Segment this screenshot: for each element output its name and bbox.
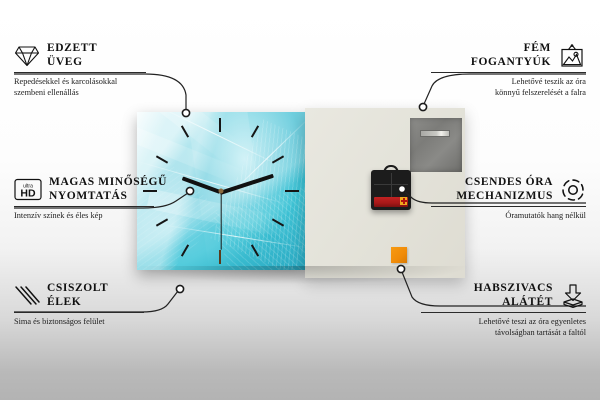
movement-seam xyxy=(391,173,392,197)
ultra-hd-big-label: HD xyxy=(20,188,36,200)
callout-high-quality-print: ultra HD MAGAS MINŐSÉGŰ NYOMTATÁS Intenz… xyxy=(14,176,174,221)
metal-hanger-plate xyxy=(410,118,462,172)
gear-icon xyxy=(560,178,586,202)
callout-title: ÜVEG xyxy=(47,56,97,70)
callout-title: CSENDES ÓRA xyxy=(456,176,553,190)
clock-tick xyxy=(251,125,259,137)
callout-description: Repedésekkel és karcolásokkal xyxy=(14,76,169,87)
callout-polished-edges: CSISZOLT ÉLEK Sima és biztonságos felüle… xyxy=(14,282,169,327)
foam-pad-sample xyxy=(391,247,407,263)
callout-title: MAGAS MINŐSÉGŰ xyxy=(49,176,167,190)
clock-second-hand xyxy=(220,192,221,250)
battery xyxy=(374,197,408,207)
clock-tick xyxy=(219,250,221,264)
callout-foam-pad: HABSZIVACS ALÁTÉT Lehetővé teszi az óra … xyxy=(421,282,586,339)
polished-edges-icon xyxy=(14,285,40,307)
callout-description: Intenzív színek és éles kép xyxy=(14,210,174,221)
callout-divider xyxy=(14,312,144,313)
clock-tick xyxy=(251,244,259,256)
callout-divider xyxy=(14,72,146,73)
clock-tick xyxy=(156,155,168,163)
callout-title: EDZETT xyxy=(47,42,97,56)
callout-title: FÉM xyxy=(471,42,551,56)
clock-tick xyxy=(272,218,284,226)
callout-title: HABSZIVACS xyxy=(474,282,553,296)
callout-tempered-glass: EDZETT ÜVEG Repedésekkel és karcolásokka… xyxy=(14,42,169,99)
callout-title: ALÁTÉT xyxy=(474,296,553,310)
callout-divider xyxy=(14,206,154,207)
hanger-slot xyxy=(420,130,450,137)
callout-description: Lehetővé teszi az óra egyenletes xyxy=(421,316,586,327)
callout-description: könnyű felszerelését a falra xyxy=(431,87,586,98)
clock-tick xyxy=(285,190,299,192)
callout-description: Lehetővé teszik az óra xyxy=(431,76,586,87)
callout-silent-mechanism: CSENDES ÓRA MECHANIZMUS Óramutatók hang … xyxy=(431,176,586,221)
callout-description: szembeni ellenállás xyxy=(14,87,169,98)
callout-description: Sima és biztonságos felület xyxy=(14,316,169,327)
battery-plus-terminal xyxy=(400,197,407,205)
infographic-canvas: EDZETT ÜVEG Repedésekkel és karcolásokka… xyxy=(0,0,600,400)
clock-tick xyxy=(181,244,189,256)
picture-hanger-icon xyxy=(558,44,586,68)
clock-tick xyxy=(272,155,284,163)
callout-title: CSISZOLT xyxy=(47,282,108,296)
ultra-hd-icon: ultra HD xyxy=(14,178,42,201)
clock-tick xyxy=(219,118,221,132)
product-drop-shadow xyxy=(137,266,467,284)
callout-title: NYOMTATÁS xyxy=(49,190,167,204)
clock-movement xyxy=(371,170,411,210)
callout-divider xyxy=(431,72,586,73)
callout-title: ÉLEK xyxy=(47,296,108,310)
diamond-icon xyxy=(14,45,40,67)
foam-pad-arrow-icon xyxy=(560,284,586,308)
clock-center-cap xyxy=(219,189,224,194)
callout-description: távolságban tartását a faltól xyxy=(421,327,586,338)
callout-divider xyxy=(421,312,586,313)
callout-description: Óramutatók hang nélkül xyxy=(431,210,586,221)
callout-title: FOGANTYÚK xyxy=(471,56,551,70)
callout-metal-handles: FÉM FOGANTYÚK Lehetővé teszik az óra kön… xyxy=(431,42,586,99)
callout-title: MECHANIZMUS xyxy=(456,190,553,204)
callout-divider xyxy=(431,206,586,207)
clock-tick xyxy=(181,125,189,137)
